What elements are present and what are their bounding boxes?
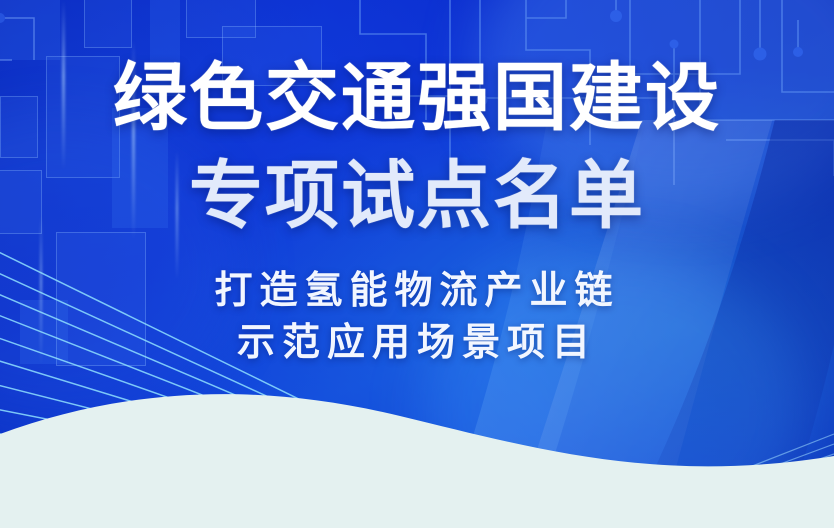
promo-poster: 绿色交通强国建设 专项试点名单 打造氢能物流产业链 示范应用场景项目 [0,0,834,528]
page-title-line-2: 专项试点名单 [0,150,834,242]
page-title-line-1: 绿色交通强国建设 [0,52,834,144]
subtitle-line-2: 示范应用场景项目 [0,318,834,366]
subtitle-line-1: 打造氢能物流产业链 [0,266,834,314]
poster-text-block: 绿色交通强国建设 专项试点名单 打造氢能物流产业链 示范应用场景项目 [0,0,834,528]
